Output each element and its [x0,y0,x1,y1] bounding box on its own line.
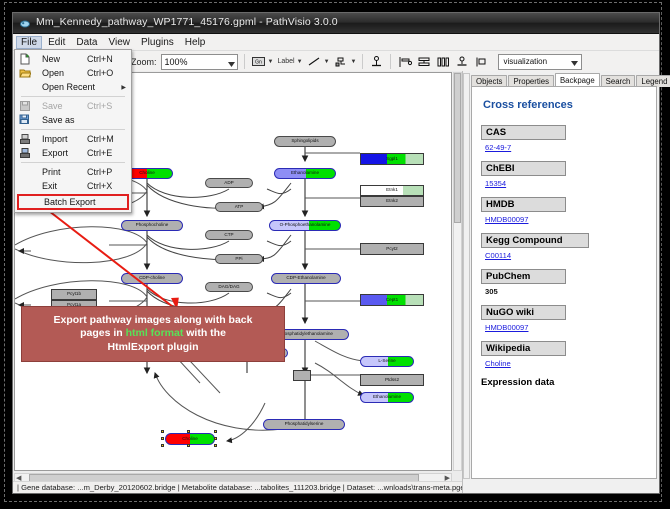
selected-node-choline[interactable]: Choline [159,429,221,449]
xref-value-kegg[interactable]: C00114 [485,251,647,260]
align-left-icon[interactable] [397,54,412,69]
xref-name-kegg: Kegg Compound [481,233,589,248]
xref-name-hmdb: HMDB [481,197,566,212]
label-dropdown-icon[interactable]: ▼ [297,59,303,65]
new-file-icon [19,53,31,65]
toolbar-separator [244,54,245,69]
resize-handle-sw[interactable] [161,444,164,447]
menu-separator-1 [21,96,125,97]
export-icon [19,147,31,159]
resize-handle-se[interactable] [214,444,217,447]
xref-cas: CAS 62-49-7 [481,125,647,152]
annotation-callout: Export pathway images along with back pa… [21,306,285,362]
menu-item-save-as[interactable]: Save as [15,113,131,127]
save-as-icon [19,114,31,126]
menu-plugins[interactable]: Plugins [136,36,179,49]
group-icon[interactable] [454,54,469,69]
expression-data-heading: Expression data [481,377,647,388]
menu-item-import[interactable]: Import Ctrl+M [15,132,131,146]
xref-pubchem: PubChem 305 [481,269,647,296]
gene-box-cept1[interactable]: Cept1 [360,294,424,306]
menu-separator-2 [21,129,125,130]
xref-value-pubchem: 305 [485,287,647,296]
callout-line-2-highlight: html format [126,327,184,339]
cross-references-title: Cross references [483,99,647,111]
menu-separator-3 [21,162,125,163]
node-phosphocholine[interactable]: Phosphocholine [121,220,183,231]
node-l-serine[interactable]: L-Serine [360,356,414,367]
callout-line-3: HtmlExport plugin [54,341,253,354]
pathvisio-icon [19,17,31,29]
menu-help[interactable]: Help [180,36,211,49]
label-tool-label[interactable]: Label [277,58,294,65]
menu-item-exit[interactable]: Exit Ctrl+X [15,179,131,193]
chevron-down-icon-2 [571,59,578,68]
menu-item-new[interactable]: New Ctrl+N [15,52,131,66]
resize-handle-e[interactable] [214,437,217,440]
interaction-icon[interactable] [334,54,349,69]
gene-box-pemt[interactable] [293,370,311,381]
canvas-vertical-scrollbar[interactable] [453,72,462,471]
menu-file[interactable]: File [16,36,42,49]
align-stack-icon[interactable] [416,54,431,69]
menu-item-save: Save Ctrl+S [15,99,131,113]
xref-value-wikipedia[interactable]: Choline [485,359,647,368]
resize-handle-ne[interactable] [214,430,217,433]
xref-wikipedia: Wikipedia Choline [481,341,647,368]
zoom-combobox[interactable]: 100% [161,54,238,70]
gene-dropdown-icon[interactable]: ▼ [268,59,274,65]
xref-value-hmdb[interactable]: HMDB00097 [485,215,647,224]
import-icon [19,133,31,145]
callout-line-2-b: with the [183,327,226,339]
zoom-label: Zoom: [131,57,157,67]
node-phosphatidylserine[interactable]: Phosphatidylserine [263,419,345,430]
toolbar-separator-3 [390,54,391,69]
interaction-dropdown-icon[interactable]: ▼ [351,59,357,65]
screen: Mm_Kennedy_pathway_WP1771_45176.gpml - P… [0,0,670,509]
gene-product-icon[interactable]: Gn [251,54,266,69]
application-window: Mm_Kennedy_pathway_WP1771_45176.gpml - P… [12,12,660,494]
xref-hmdb: HMDB HMDB00097 [481,197,647,224]
zoom-value: 100% [165,57,188,67]
anchor-icon[interactable] [369,54,384,69]
line-icon[interactable] [307,54,322,69]
xref-value-nugo[interactable]: HMDB00097 [485,323,647,332]
tab-backpage[interactable]: Backpage [555,73,600,87]
node-adp[interactable]: ADP [205,178,253,188]
node-dag[interactable]: DAG/DAG [205,282,253,292]
toolbar-separator-2 [362,54,363,69]
canvas-vertical-scroll-thumb[interactable] [454,73,461,223]
xref-name-nugo: NuGO wiki [481,305,566,320]
resize-handle-w[interactable] [161,437,164,440]
node-ethanolamine-2[interactable]: Ethanolamine [360,392,414,403]
side-panel-tabs[interactable]: Objects Properties Backpage Search Legen… [471,73,657,87]
gene-box-pcyt2[interactable]: Pcyt2 [360,243,424,255]
menu-item-batch-export[interactable]: Batch Export [17,194,129,210]
node-sphingolipids[interactable]: Sphingolipids [274,136,336,147]
xref-name-cas: CAS [481,125,566,140]
window-title: Mm_Kennedy_pathway_WP1771_45176.gpml - P… [36,16,338,28]
side-panel: Objects Properties Backpage Search Legen… [463,71,659,493]
backpage-content: Cross references CAS 62-49-7 ChEBI 15354… [471,86,657,479]
xref-nugo: NuGO wiki HMDB00097 [481,305,647,332]
menu-item-open-recent[interactable]: Open Recent ▶ [15,80,131,94]
node-ethanolamine[interactable]: Ethanolamine [274,168,336,179]
chevron-down-icon [228,59,235,69]
side-panel-spine[interactable] [463,73,470,479]
menu-edit[interactable]: Edit [43,36,70,49]
menu-data[interactable]: Data [71,36,102,49]
xref-name-wikipedia: Wikipedia [481,341,566,356]
callout-line-2-a: pages in [80,327,126,339]
callout-line-1: Export pathway images along with back [54,314,253,327]
resize-handle-nw[interactable] [161,430,164,433]
gene-box-pcyt1b[interactable]: Pcyt1b [51,289,97,300]
node-o-phosphoethanolamine[interactable]: O-Phosphoethanolamine [269,220,341,231]
node-ppi[interactable]: PPi [215,254,263,264]
menu-item-export[interactable]: Export Ctrl+E [15,146,131,160]
visualization-combobox[interactable]: visualization [498,54,582,70]
visualization-value: visualization [503,57,547,66]
gene-box-etnk1[interactable]: Etnk1 [360,185,424,196]
distribute-icon[interactable] [435,54,450,69]
node-cdp-ethanolamine[interactable]: CDP-Ethanolamine [271,273,341,284]
line-dropdown-icon[interactable]: ▼ [324,59,330,65]
node-atp[interactable]: ATP [215,202,263,212]
xref-name-chebi: ChEBI [481,161,566,176]
submenu-arrow-icon: ▶ [121,84,126,91]
svg-text:Gn: Gn [255,60,262,66]
resize-handle-s[interactable] [187,444,190,447]
xref-value-cas[interactable]: 62-49-7 [485,143,647,152]
save-disk-icon [19,100,31,112]
xref-name-pubchem: PubChem [481,269,566,284]
gene-box-ptdss2[interactable]: Ptdss2 [360,374,424,386]
node-cdp-choline[interactable]: CDP-choline [121,273,183,284]
xref-chebi: ChEBI 15354 [481,161,647,188]
xref-kegg: Kegg Compound C00114 [481,233,647,260]
xref-value-chebi[interactable]: 15354 [485,179,647,188]
menu-view[interactable]: View [103,36,135,49]
order-icon[interactable] [473,54,488,69]
resize-handle-n[interactable] [187,430,190,433]
gene-box-sgpl1[interactable]: Sgpl1 [360,153,424,165]
menu-item-print[interactable]: Print Ctrl+P [15,165,131,179]
node-ctp[interactable]: CTP [205,230,253,240]
open-folder-icon [19,67,31,79]
gene-box-etnk2[interactable]: Etnk2 [360,196,424,207]
menu-item-open[interactable]: Open Ctrl+O [15,66,131,80]
title-bar: Mm_Kennedy_pathway_WP1771_45176.gpml - P… [13,13,659,34]
status-bar: | Gene database: ...m_Derby_20120602.bri… [13,481,462,493]
file-menu-popup[interactable]: New Ctrl+N Open Ctrl+O Open Recent ▶ Sav… [14,49,132,213]
